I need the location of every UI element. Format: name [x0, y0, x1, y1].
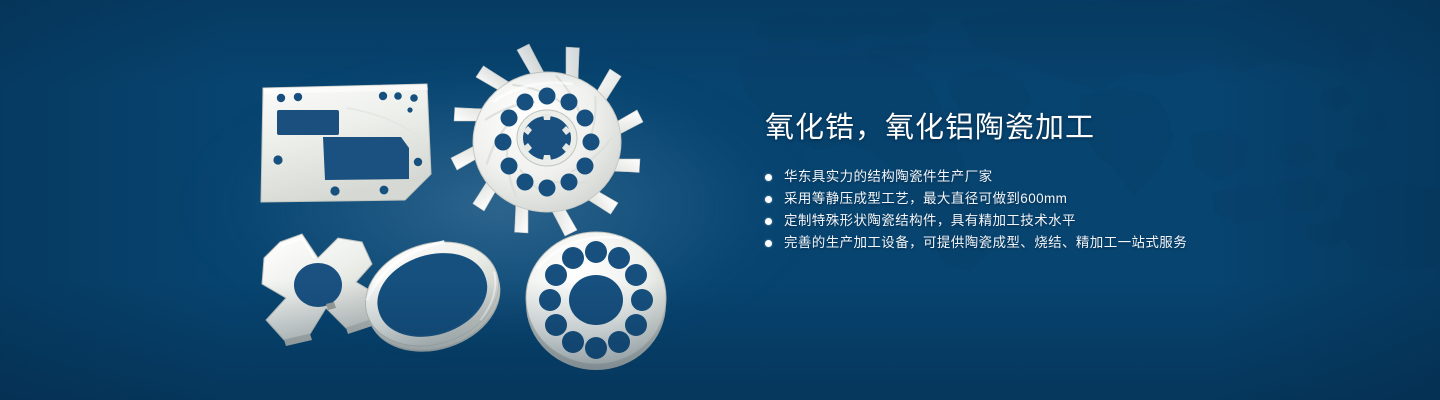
- list-item-label: 完善的生产加工设备，可提供陶瓷成型、烧结、精加工一站式服务: [784, 232, 1187, 254]
- bullet-dot-icon: [765, 218, 772, 225]
- list-item: 定制特殊形状陶瓷结构件，具有精加工技术水平: [765, 210, 1405, 232]
- bullet-dot-icon: [765, 240, 772, 247]
- list-item-label: 华东具实力的结构陶瓷件生产厂家: [784, 166, 993, 188]
- list-item: 华东具实力的结构陶瓷件生产厂家: [765, 166, 1405, 188]
- banner-copy: 氧化锆，氧化铝陶瓷加工 华东具实力的结构陶瓷件生产厂家 采用等静压成型工艺，最大…: [765, 108, 1405, 254]
- feature-list: 华东具实力的结构陶瓷件生产厂家 采用等静压成型工艺，最大直径可做到600mm 定…: [765, 166, 1405, 254]
- promo-banner: 氧化锆，氧化铝陶瓷加工 华东具实力的结构陶瓷件生产厂家 采用等静压成型工艺，最大…: [0, 0, 1440, 400]
- bullet-dot-icon: [765, 174, 772, 181]
- bullet-dot-icon: [765, 196, 772, 203]
- list-item: 完善的生产加工设备，可提供陶瓷成型、烧结、精加工一站式服务: [765, 232, 1405, 254]
- list-item: 采用等静压成型工艺，最大直径可做到600mm: [765, 188, 1405, 210]
- page-title: 氧化锆，氧化铝陶瓷加工: [765, 108, 1405, 148]
- list-item-label: 采用等静压成型工艺，最大直径可做到600mm: [784, 188, 1067, 210]
- list-item-label: 定制特殊形状陶瓷结构件，具有精加工技术水平: [784, 210, 1076, 232]
